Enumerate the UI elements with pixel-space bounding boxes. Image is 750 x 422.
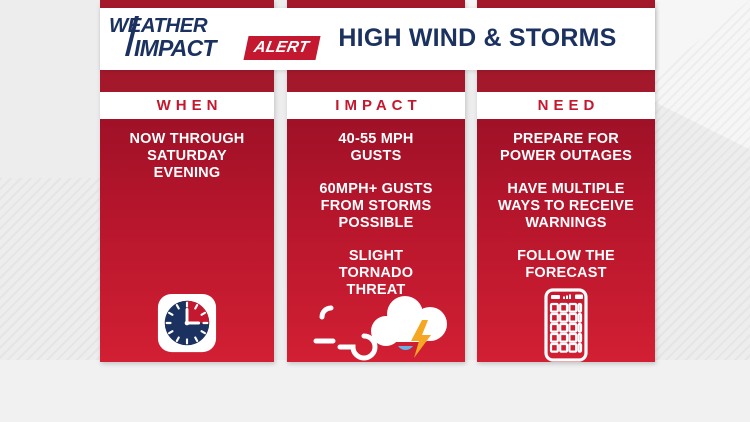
column-label-need: NEED bbox=[533, 97, 600, 114]
column-text-when: NOW THROUGH SATURDAY EVENING bbox=[100, 119, 274, 182]
column-divider-red bbox=[477, 70, 655, 92]
text-line: NOW THROUGH SATURDAY EVENING bbox=[108, 131, 266, 182]
column-divider-red bbox=[100, 70, 274, 92]
weather-impact-alert-logo: WEATHER IMPACT ALERT bbox=[108, 15, 308, 62]
alert-graphic: WHEN NOW THROUGH SATURDAY EVENING bbox=[0, 0, 750, 422]
column-body-need: PREPARE FOR POWER OUTAGES HAVE MULTIPLE … bbox=[477, 119, 655, 362]
column-text-need: PREPARE FOR POWER OUTAGES HAVE MULTIPLE … bbox=[477, 119, 655, 282]
wind-thunderstorm-icon bbox=[287, 272, 465, 362]
page-title: HIGH WIND & STORMS bbox=[300, 15, 655, 62]
page-title-text: HIGH WIND & STORMS bbox=[338, 24, 616, 53]
column-label-when: WHEN bbox=[152, 97, 223, 114]
column-label-band-when: WHEN bbox=[100, 92, 274, 119]
column-top-cap bbox=[287, 0, 465, 8]
column-label-band-impact: IMPACT bbox=[287, 92, 465, 119]
text-line: 60MPH+ GUSTS FROM STORMS POSSIBLE bbox=[295, 181, 457, 232]
column-divider-red bbox=[287, 70, 465, 92]
text-line: 40-55 MPH GUSTS bbox=[295, 131, 457, 165]
column-label-band-need: NEED bbox=[477, 92, 655, 119]
text-line: PREPARE FOR POWER OUTAGES bbox=[485, 131, 647, 165]
column-top-cap bbox=[100, 0, 274, 8]
smartphone-icon bbox=[477, 272, 655, 362]
clock-icon bbox=[100, 264, 274, 354]
logo-text-impact: IMPACT bbox=[134, 35, 216, 62]
column-top-cap bbox=[477, 0, 655, 8]
column-label-impact: IMPACT bbox=[330, 97, 421, 114]
text-line: HAVE MULTIPLE WAYS TO RECEIVE WARNINGS bbox=[485, 181, 647, 232]
column-body-impact: 40-55 MPH GUSTS 60MPH+ GUSTS FROM STORMS… bbox=[287, 119, 465, 362]
column-body-when: NOW THROUGH SATURDAY EVENING bbox=[100, 119, 274, 362]
